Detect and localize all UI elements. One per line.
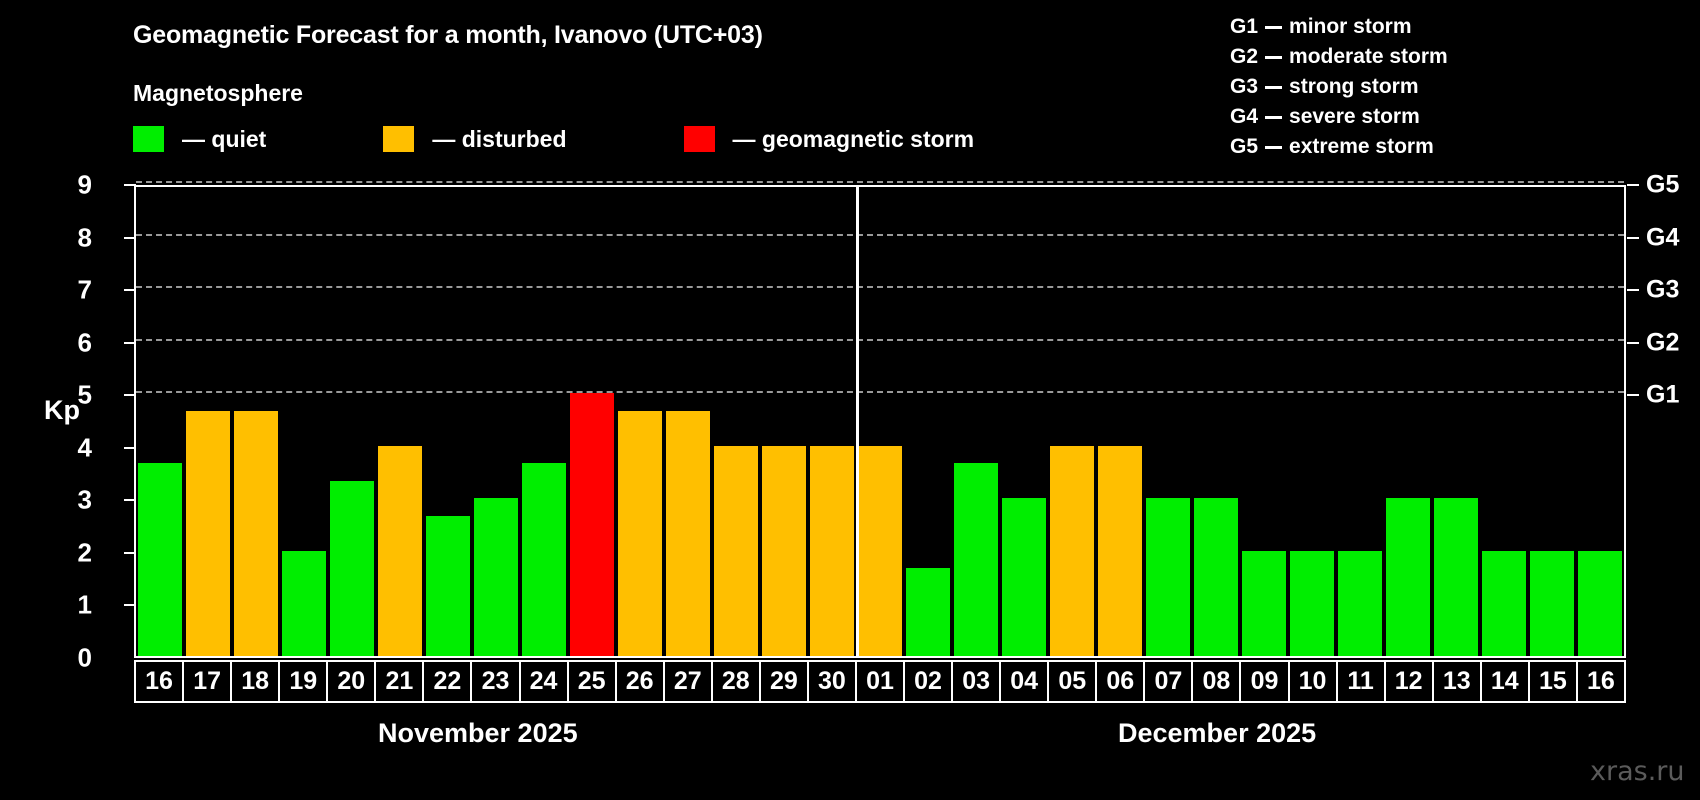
g-tick-label-g1: G1 bbox=[1646, 381, 1679, 410]
bar-slot[interactable] bbox=[328, 187, 376, 656]
bar-slot[interactable] bbox=[184, 187, 232, 656]
y-tick-mark-1 bbox=[124, 604, 136, 606]
y-tick-label-5: 5 bbox=[52, 380, 92, 411]
date-label-02[interactable]: 02 bbox=[903, 660, 953, 703]
date-label-29[interactable]: 29 bbox=[759, 660, 809, 703]
y-tick-label-9: 9 bbox=[52, 170, 92, 201]
bar-slot[interactable] bbox=[1336, 187, 1384, 656]
bar-05[interactable] bbox=[1050, 446, 1094, 656]
y-tick-label-1: 1 bbox=[52, 590, 92, 621]
date-label-21[interactable]: 21 bbox=[374, 660, 424, 703]
bar-29[interactable] bbox=[762, 446, 806, 656]
bar-slot[interactable] bbox=[1288, 187, 1336, 656]
y-tick-mark-3 bbox=[124, 499, 136, 501]
g-tick-mark-g5 bbox=[1627, 184, 1639, 186]
date-label-17[interactable]: 17 bbox=[182, 660, 232, 703]
bar-09[interactable] bbox=[1242, 551, 1286, 656]
g-tick-mark-g4 bbox=[1627, 237, 1639, 239]
date-label-26[interactable]: 26 bbox=[615, 660, 665, 703]
bar-23[interactable] bbox=[474, 498, 518, 656]
date-label-27[interactable]: 27 bbox=[663, 660, 713, 703]
date-label-10[interactable]: 10 bbox=[1288, 660, 1338, 703]
y-tick-label-4: 4 bbox=[52, 432, 92, 463]
bar-30[interactable] bbox=[810, 446, 854, 656]
g-tick-mark-g2 bbox=[1627, 342, 1639, 344]
bar-slot[interactable] bbox=[1240, 187, 1288, 656]
bar-slot[interactable] bbox=[424, 187, 472, 656]
month-caption-december: December 2025 bbox=[1118, 718, 1316, 749]
bar-slot[interactable] bbox=[760, 187, 808, 656]
bar-22[interactable] bbox=[426, 516, 470, 656]
bar-slot[interactable] bbox=[1576, 187, 1624, 656]
month-divider bbox=[856, 187, 859, 656]
g-tick-mark-g1 bbox=[1627, 394, 1639, 396]
date-label-15[interactable]: 15 bbox=[1528, 660, 1578, 703]
bar-slot[interactable] bbox=[472, 187, 520, 656]
bar-03[interactable] bbox=[954, 463, 998, 656]
bar-slot[interactable] bbox=[856, 187, 904, 656]
date-label-07[interactable]: 07 bbox=[1143, 660, 1193, 703]
bar-slot[interactable] bbox=[952, 187, 1000, 656]
bar-28[interactable] bbox=[714, 446, 758, 656]
date-label-24[interactable]: 24 bbox=[519, 660, 569, 703]
month-caption-november: November 2025 bbox=[378, 718, 578, 749]
date-label-13[interactable]: 13 bbox=[1432, 660, 1482, 703]
bar-slot[interactable] bbox=[808, 187, 856, 656]
y-tick-label-2: 2 bbox=[52, 537, 92, 568]
date-label-19[interactable]: 19 bbox=[278, 660, 328, 703]
bar-16[interactable] bbox=[1578, 551, 1622, 656]
bar-slot[interactable] bbox=[1048, 187, 1096, 656]
watermark: xras.ru bbox=[1590, 756, 1685, 787]
y-tick-mark-2 bbox=[124, 552, 136, 554]
y-tick-mark-5 bbox=[124, 394, 136, 396]
bar-08[interactable] bbox=[1194, 498, 1238, 656]
bar-01[interactable] bbox=[858, 446, 902, 656]
bar-slot[interactable] bbox=[1528, 187, 1576, 656]
gridline-kp-9 bbox=[136, 181, 1624, 183]
date-label-01[interactable]: 01 bbox=[855, 660, 905, 703]
date-label-04[interactable]: 04 bbox=[999, 660, 1049, 703]
bar-slot[interactable] bbox=[712, 187, 760, 656]
y-tick-mark-8 bbox=[124, 237, 136, 239]
y-tick-mark-6 bbox=[124, 342, 136, 344]
bar-15[interactable] bbox=[1530, 551, 1574, 656]
date-label-05[interactable]: 05 bbox=[1047, 660, 1097, 703]
date-label-18[interactable]: 18 bbox=[230, 660, 280, 703]
bar-slot[interactable] bbox=[1144, 187, 1192, 656]
bar-slot[interactable] bbox=[616, 187, 664, 656]
bar-20[interactable] bbox=[330, 481, 374, 656]
g-tick-label-g5: G5 bbox=[1646, 171, 1679, 200]
bar-26[interactable] bbox=[618, 411, 662, 656]
bar-07[interactable] bbox=[1146, 498, 1190, 656]
date-label-08[interactable]: 08 bbox=[1191, 660, 1241, 703]
plot-frame bbox=[134, 185, 1626, 658]
bar-25[interactable] bbox=[570, 393, 614, 656]
bar-18[interactable] bbox=[234, 411, 278, 656]
bar-21[interactable] bbox=[378, 446, 422, 656]
bar-slot[interactable] bbox=[664, 187, 712, 656]
date-label-06[interactable]: 06 bbox=[1095, 660, 1145, 703]
bar-slot[interactable] bbox=[1192, 187, 1240, 656]
date-label-11[interactable]: 11 bbox=[1336, 660, 1386, 703]
y-tick-label-6: 6 bbox=[52, 327, 92, 358]
date-label-25[interactable]: 25 bbox=[567, 660, 617, 703]
date-label-23[interactable]: 23 bbox=[470, 660, 520, 703]
bar-11[interactable] bbox=[1338, 551, 1382, 656]
y-tick-label-7: 7 bbox=[52, 275, 92, 306]
bar-04[interactable] bbox=[1002, 498, 1046, 656]
bar-06[interactable] bbox=[1098, 446, 1142, 656]
date-axis: 1617181920212223242526272829300102030405… bbox=[134, 660, 1626, 703]
y-tick-mark-9 bbox=[124, 184, 136, 186]
bar-slot[interactable] bbox=[520, 187, 568, 656]
bar-series bbox=[136, 187, 1624, 656]
date-label-20[interactable]: 20 bbox=[326, 660, 376, 703]
date-label-09[interactable]: 09 bbox=[1239, 660, 1289, 703]
bar-14[interactable] bbox=[1482, 551, 1526, 656]
bar-slot[interactable] bbox=[568, 187, 616, 656]
bar-slot[interactable] bbox=[1432, 187, 1480, 656]
bar-27[interactable] bbox=[666, 411, 710, 656]
y-tick-label-8: 8 bbox=[52, 222, 92, 253]
date-label-22[interactable]: 22 bbox=[422, 660, 472, 703]
bar-24[interactable] bbox=[522, 463, 566, 656]
y-tick-label-0: 0 bbox=[52, 643, 92, 674]
date-label-30[interactable]: 30 bbox=[807, 660, 857, 703]
y-tick-mark-4 bbox=[124, 447, 136, 449]
bar-02[interactable] bbox=[906, 568, 950, 656]
date-label-28[interactable]: 28 bbox=[711, 660, 761, 703]
date-label-03[interactable]: 03 bbox=[951, 660, 1001, 703]
y-tick-mark-7 bbox=[124, 289, 136, 291]
date-label-16[interactable]: 16 bbox=[134, 660, 184, 703]
date-label-16[interactable]: 16 bbox=[1576, 660, 1626, 703]
bar-slot[interactable] bbox=[280, 187, 328, 656]
bar-slot[interactable] bbox=[232, 187, 280, 656]
bar-19[interactable] bbox=[282, 551, 326, 656]
g-tick-mark-g3 bbox=[1627, 289, 1639, 291]
date-label-14[interactable]: 14 bbox=[1480, 660, 1530, 703]
bar-slot[interactable] bbox=[1000, 187, 1048, 656]
g-tick-label-g4: G4 bbox=[1646, 223, 1679, 252]
date-label-12[interactable]: 12 bbox=[1384, 660, 1434, 703]
bar-slot[interactable] bbox=[1480, 187, 1528, 656]
bar-slot[interactable] bbox=[904, 187, 952, 656]
bar-slot[interactable] bbox=[376, 187, 424, 656]
g-tick-label-g2: G2 bbox=[1646, 328, 1679, 357]
bar-16[interactable] bbox=[138, 463, 182, 656]
g-tick-label-g3: G3 bbox=[1646, 276, 1679, 305]
bar-17[interactable] bbox=[186, 411, 230, 656]
bar-slot[interactable] bbox=[1384, 187, 1432, 656]
bar-12[interactable] bbox=[1386, 498, 1430, 656]
bar-slot[interactable] bbox=[1096, 187, 1144, 656]
bar-13[interactable] bbox=[1434, 498, 1478, 656]
bar-10[interactable] bbox=[1290, 551, 1334, 656]
y-tick-label-3: 3 bbox=[52, 485, 92, 516]
bar-slot[interactable] bbox=[136, 187, 184, 656]
